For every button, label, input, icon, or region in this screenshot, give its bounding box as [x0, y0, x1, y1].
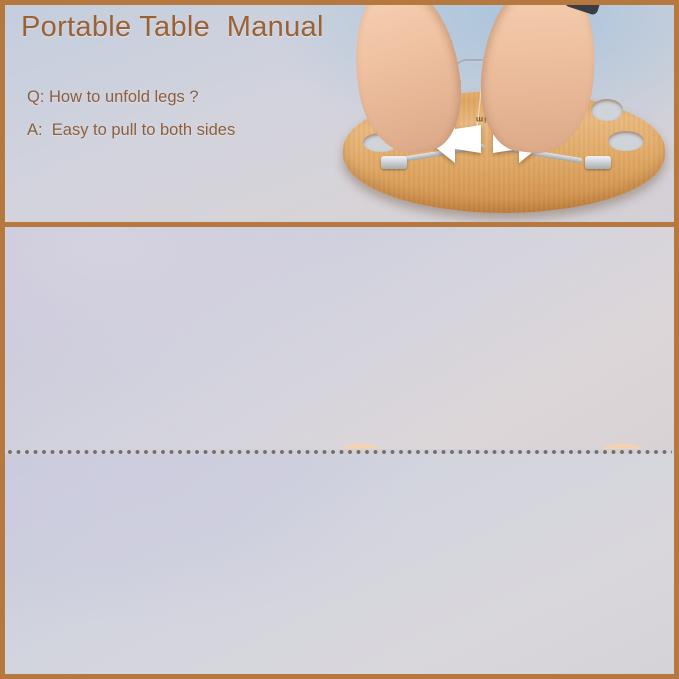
hinge-bracket-right — [585, 156, 611, 169]
glass-slot — [608, 131, 644, 151]
panel-1-question: Q: How to unfold legs ? — [27, 88, 199, 107]
page-title: Portable Table Manual — [21, 11, 324, 44]
panel-unfold-legs: Hap Tim Portable Table Manual Q: How to … — [5, 5, 674, 222]
manual-page: Hap Tim Portable Table Manual Q: How to … — [0, 0, 679, 679]
glass-slot — [591, 99, 623, 121]
panel-2-background — [5, 227, 674, 449]
divider-dotted — [7, 449, 672, 455]
panel-fold-legs-step2: Hap Tim Press Pull Out Press Pull Out A:… — [5, 454, 674, 674]
hinge-bracket-left — [381, 156, 407, 169]
panel-1-answer: A: Easy to pull to both sides — [27, 121, 235, 140]
panel-3-background — [5, 454, 674, 674]
panel-fold-legs-step1: Hap Tim Press Pull Out Q: How to fold le… — [5, 227, 674, 449]
illustration-unfold-legs: Hap Tim — [323, 5, 674, 222]
divider-solid — [5, 222, 674, 227]
